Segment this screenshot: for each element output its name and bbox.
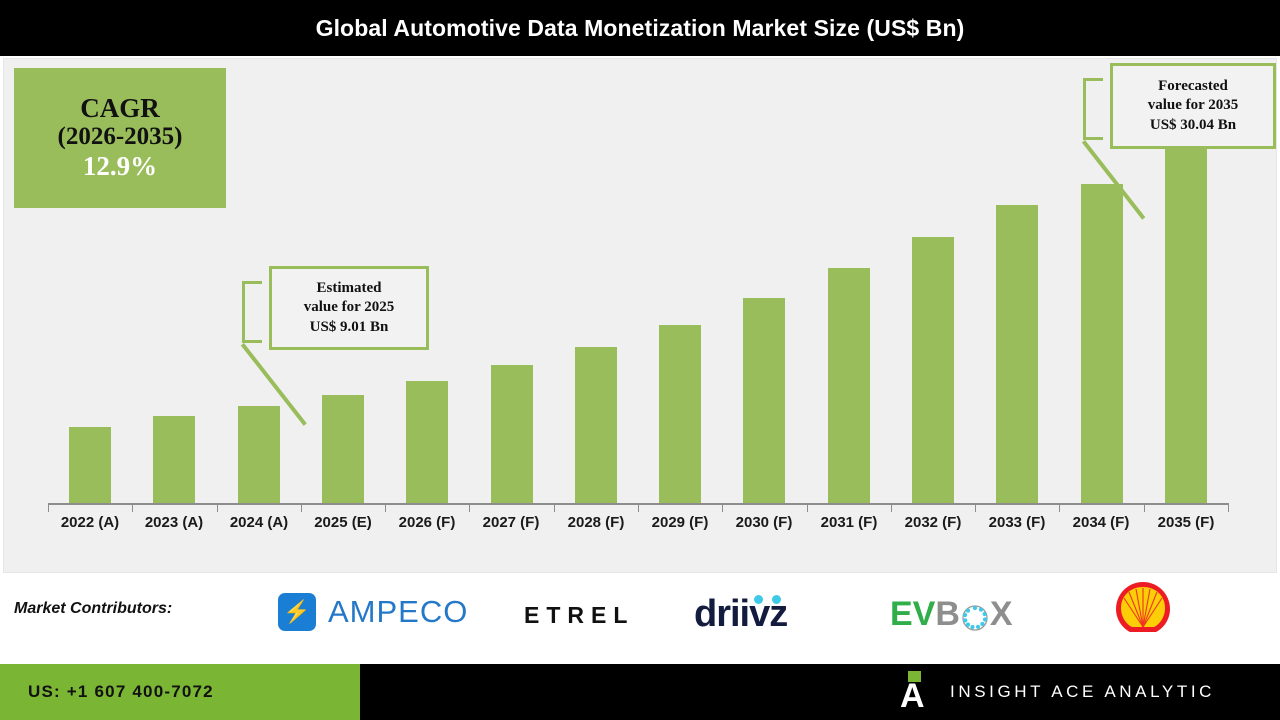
estimated-callout-line1: Estimated — [317, 279, 382, 298]
forecast-callout-bracket — [1083, 78, 1103, 140]
x-axis-tick — [975, 503, 976, 512]
x-axis-label-2029: 2029 (F) — [638, 514, 722, 531]
driivz-logo: driivz — [694, 593, 787, 636]
bar-2025[interactable] — [322, 395, 364, 503]
forecast-callout-line3: US$ 30.04 Bn — [1150, 116, 1236, 135]
cagr-period: (2026-2035) — [58, 123, 183, 151]
footer-contact-band: US: +1 607 400-7072 — [0, 664, 360, 720]
x-axis-label-2028: 2028 (F) — [554, 514, 638, 531]
x-axis-tick — [217, 503, 218, 512]
evbox-logo: EV B X — [890, 595, 1013, 634]
x-axis-label-2022: 2022 (A) — [48, 514, 132, 531]
x-axis-label-2035: 2035 (F) — [1144, 514, 1228, 531]
bar-2034[interactable] — [1081, 184, 1123, 503]
x-axis-tick — [301, 503, 302, 512]
x-axis-label-2025: 2025 (E) — [301, 514, 385, 531]
x-axis-tick — [891, 503, 892, 512]
x-axis-label-2030: 2030 (F) — [722, 514, 806, 531]
cagr-badge: CAGR (2026-2035) 12.9% — [14, 68, 226, 208]
x-axis-tick — [554, 503, 555, 512]
page-title: Global Automotive Data Monetization Mark… — [316, 15, 965, 42]
shell-logo — [1112, 578, 1174, 636]
x-axis-label-2027: 2027 (F) — [469, 514, 553, 531]
x-axis-label-2034: 2034 (F) — [1059, 514, 1143, 531]
bar-2024[interactable] — [238, 406, 280, 503]
x-axis-tick — [638, 503, 639, 512]
bar-2033[interactable] — [996, 205, 1038, 503]
market-contributors-section: Market Contributors: ⚡ AMPECO ETREL drii… — [0, 575, 1280, 663]
logo-letter-a: A — [900, 681, 930, 713]
market-contributors-label: Market Contributors: — [14, 600, 172, 618]
chart-panel: 2022 (A)2023 (A)2024 (A)2025 (E)2026 (F)… — [3, 58, 1277, 573]
x-axis-label-2026: 2026 (F) — [385, 514, 469, 531]
x-axis-tick — [807, 503, 808, 512]
evbox-b-text: B — [935, 595, 960, 634]
ampeco-logo-text: AMPECO — [328, 594, 468, 630]
estimated-callout-bracket — [242, 281, 262, 343]
footer-phone[interactable]: US: +1 607 400-7072 — [0, 682, 214, 702]
estimated-callout-line3: US$ 9.01 Bn — [310, 318, 389, 337]
x-axis-tick — [1228, 503, 1229, 512]
x-axis-tick — [722, 503, 723, 512]
shell-pecten-icon — [1112, 578, 1174, 636]
bar-2035[interactable] — [1165, 144, 1207, 503]
evbox-x-text: X — [990, 595, 1013, 634]
bar-2023[interactable] — [153, 416, 195, 503]
x-axis-label-2024: 2024 (A) — [217, 514, 301, 531]
etrel-logo-text: ETREL — [524, 602, 634, 629]
bar-2031[interactable] — [828, 268, 870, 503]
estimated-value-callout: Estimated value for 2025 US$ 9.01 Bn — [269, 266, 429, 350]
forecast-value-callout: Forecasted value for 2035 US$ 30.04 Bn — [1110, 63, 1276, 149]
evbox-ev-text: EV — [890, 595, 935, 634]
forecast-callout-line2: value for 2035 — [1148, 96, 1239, 115]
x-axis-tick — [132, 503, 133, 512]
x-axis-label-2031: 2031 (F) — [807, 514, 891, 531]
driivz-logo-text: driivz — [694, 593, 787, 636]
ampeco-logo: ⚡ AMPECO — [278, 593, 468, 631]
x-axis-label-2023: 2023 (A) — [132, 514, 216, 531]
driivz-dot-2-icon — [772, 595, 781, 604]
bar-2027[interactable] — [491, 365, 533, 503]
insight-ace-a-logo-icon: A — [900, 671, 930, 713]
bar-2026[interactable] — [406, 381, 448, 503]
footer-brand: A INSIGHT ACE ANALYTIC — [900, 664, 1215, 720]
cagr-label: CAGR — [80, 94, 160, 123]
evbox-dotted-o-icon — [960, 600, 990, 630]
x-axis-tick — [48, 503, 49, 512]
bar-2022[interactable] — [69, 427, 111, 503]
title-bar: Global Automotive Data Monetization Mark… — [0, 0, 1280, 56]
driivz-dot-1-icon — [754, 595, 763, 604]
bar-2029[interactable] — [659, 325, 701, 503]
footer-brand-text: INSIGHT ACE ANALYTIC — [950, 682, 1215, 702]
etrel-logo: ETREL — [524, 602, 634, 629]
estimated-callout-line2: value for 2025 — [304, 298, 395, 317]
footer-bar: US: +1 607 400-7072 A INSIGHT ACE ANALYT… — [0, 664, 1280, 720]
x-axis-tick — [1059, 503, 1060, 512]
bar-2032[interactable] — [912, 237, 954, 503]
x-axis-label-2032: 2032 (F) — [891, 514, 975, 531]
forecast-callout-line1: Forecasted — [1158, 77, 1228, 96]
bar-2030[interactable] — [743, 298, 785, 503]
x-axis-tick — [1144, 503, 1145, 512]
ampeco-bolt-icon: ⚡ — [278, 593, 316, 631]
x-axis-tick — [385, 503, 386, 512]
x-axis-label-2033: 2033 (F) — [975, 514, 1059, 531]
x-axis-tick — [469, 503, 470, 512]
bar-2028[interactable] — [575, 347, 617, 503]
cagr-value: 12.9% — [83, 151, 157, 182]
